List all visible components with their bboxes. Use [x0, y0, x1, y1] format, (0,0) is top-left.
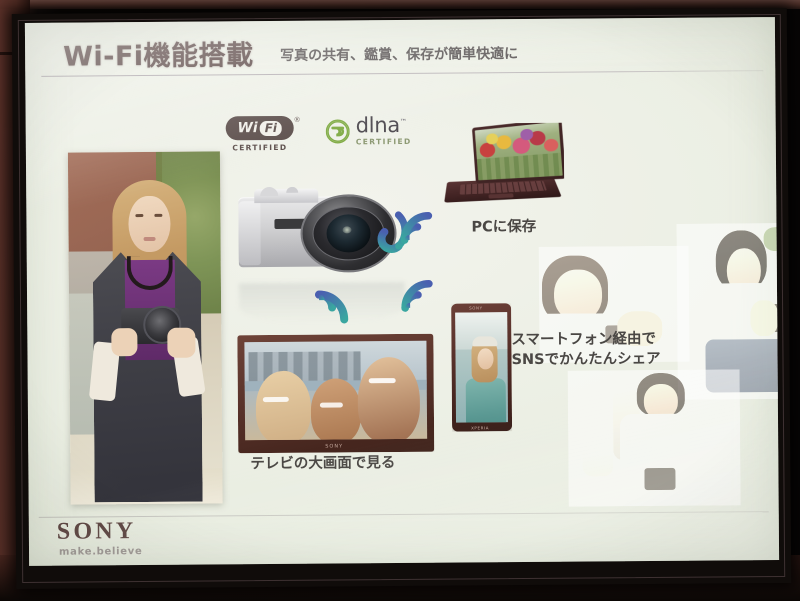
- phone-photo-person-shirt: [466, 378, 506, 422]
- phone-model-label: XPERIA: [471, 425, 489, 430]
- dlna-certified-label: CERTIFIED: [356, 137, 412, 146]
- page-title: Wi-Fi機能搭載: [63, 33, 254, 73]
- wifi-mark-fi: Fi: [260, 120, 282, 135]
- callout-share-via-sns: スマートフォン経由で SNSでかんたんシェア: [511, 329, 660, 370]
- callout-sns-line1: スマートフォン経由で: [511, 329, 660, 350]
- certification-badges: Wi Fi ® CERTIFIED dlna™ CERTIFIED: [226, 115, 412, 152]
- phone-brand-label: SONY: [469, 305, 483, 310]
- photo-woman-with-camera: [68, 151, 223, 504]
- dlna-logo-row: dlna™ CERTIFIED: [326, 115, 412, 147]
- wifi-logo-icon: Wi Fi ®: [226, 116, 294, 141]
- laptop-touchpad: [488, 193, 513, 198]
- photo-man-standing-with-phone: [568, 369, 741, 506]
- wifi-certified-label: CERTIFIED: [232, 143, 287, 152]
- photo-woman-eye-right: [154, 214, 162, 217]
- dlna-certified-badge: dlna™ CERTIFIED: [326, 115, 412, 147]
- slide-header: Wi-Fi機能搭載 写真の共有、鑑賞、保存が簡単快適に: [25, 17, 775, 79]
- life-c-bg-person-left: [582, 400, 614, 476]
- tv-brand-badge: SONY: [325, 443, 343, 449]
- camera-lens-glint: [342, 226, 351, 233]
- sony-logo: SONY: [57, 518, 137, 546]
- laptop-lid: [472, 123, 564, 184]
- tv-photo-person-center: [310, 379, 361, 441]
- callout-view-on-tv: テレビの大画面で見る: [250, 453, 395, 474]
- device-laptop: [442, 123, 565, 216]
- wifi-signal-arc-to-pc: [392, 196, 448, 252]
- camera-lens-glass: [326, 214, 370, 252]
- life-b-hand: [750, 300, 778, 335]
- tv-photo-person-right: [357, 357, 420, 441]
- life-c-shirt: [620, 413, 700, 503]
- callout-save-to-pc: PCに保存: [471, 217, 536, 238]
- life-c-phone: [644, 468, 675, 490]
- device-smartphone: SONY XPERIA: [451, 303, 512, 431]
- trademark-icon: ™: [400, 118, 407, 126]
- photo-woman-hand-right: [167, 328, 195, 358]
- camera-grip: [238, 201, 261, 265]
- photo-woman-face: [128, 196, 170, 252]
- sony-tagline: make.believe: [59, 546, 143, 558]
- camera-shutter-button: [286, 187, 298, 193]
- laptop-screen-flower-photo: [475, 123, 563, 181]
- photo-woman-lips: [144, 237, 156, 241]
- presentation-slide: Wi-Fi機能搭載 写真の共有、鑑賞、保存が簡単快適に Wi Fi ® CERT…: [25, 17, 779, 566]
- phone-photo-person-cap: [472, 336, 497, 346]
- wifi-signal-arc-to-phone: [393, 264, 449, 320]
- phone-screen-portrait-photo: [455, 312, 508, 422]
- device-television: SONY: [237, 334, 434, 454]
- page-subtitle: 写真の共有、鑑賞、保存が簡単快適に: [280, 43, 518, 65]
- tv-screen-group-photo: [244, 341, 427, 440]
- callout-sns-line2: SNSでかんたんシェア: [511, 349, 660, 370]
- wifi-certified-badge: Wi Fi ® CERTIFIED: [226, 116, 294, 153]
- dlna-wordmark: dlna™: [356, 115, 412, 136]
- wifi-mark-wi: Wi: [237, 121, 257, 135]
- footer-divider: [39, 511, 769, 518]
- photo-woman-eye-left: [135, 214, 143, 217]
- dlna-circle-icon: [326, 119, 350, 143]
- wifi-signal-arc-to-tv: [305, 276, 375, 339]
- dlna-word-text: dlna: [356, 113, 400, 137]
- tv-bezel: SONY: [237, 334, 434, 454]
- phone-photo-person-face: [477, 348, 493, 369]
- tv-photo-person-left: [256, 371, 311, 440]
- room-top-band: [0, 0, 800, 9]
- laptop-keyboard: [460, 181, 547, 195]
- phone-chassis: [451, 303, 512, 431]
- registered-mark-icon: ®: [294, 116, 301, 124]
- photo-woman-hand-left: [111, 328, 137, 356]
